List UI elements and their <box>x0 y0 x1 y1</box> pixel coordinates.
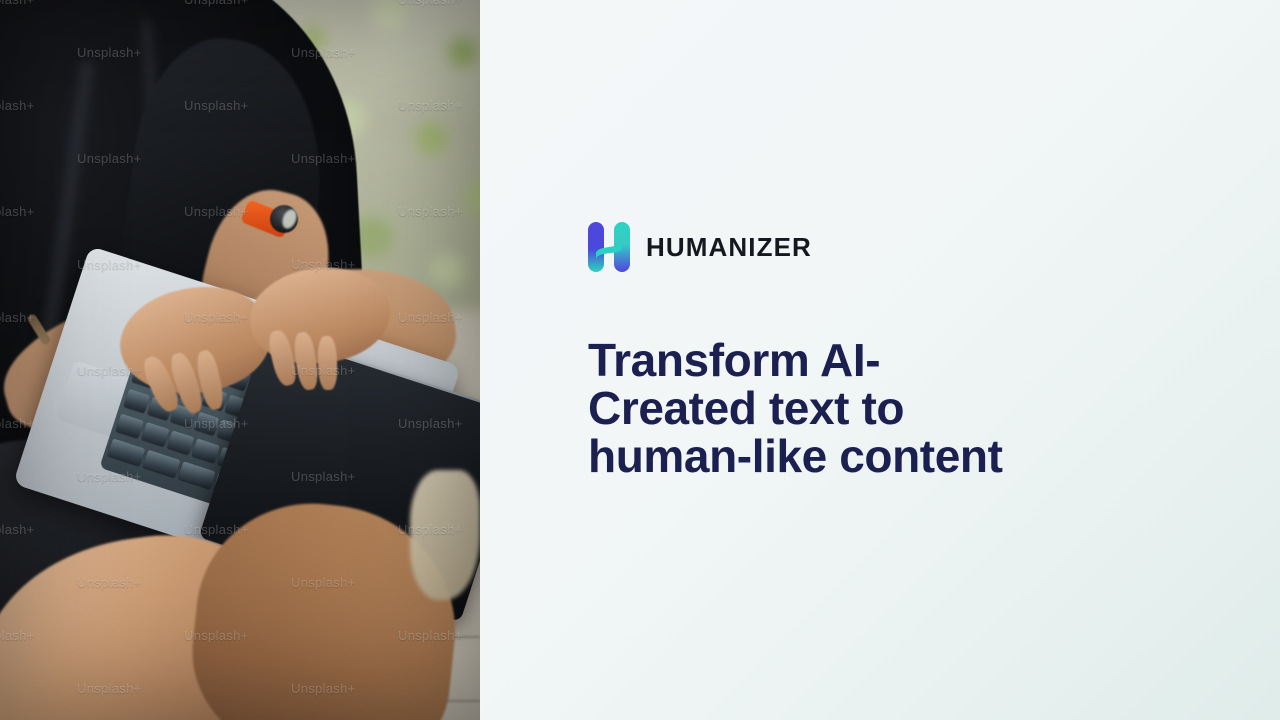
slide-root: Unsplash+Unsplash+Unsplash+Unsplash+Unsp… <box>0 0 1280 720</box>
photo-vignette <box>0 0 480 720</box>
brand-wordmark: HUMANIZER <box>646 234 812 260</box>
humanizer-h-logo-icon <box>588 222 630 272</box>
headline-line-1: Transform AI- <box>588 336 1058 384</box>
headline-line-2: Created text to <box>588 384 1058 432</box>
brand-lockup: HUMANIZER <box>588 222 812 272</box>
headline-line-3: human-like content <box>588 432 1058 480</box>
content-panel: HUMANIZER Transform AI- Created text to … <box>480 0 1280 720</box>
page-title: Transform AI- Created text to human-like… <box>588 336 1058 480</box>
hero-photo: Unsplash+Unsplash+Unsplash+Unsplash+Unsp… <box>0 0 480 720</box>
